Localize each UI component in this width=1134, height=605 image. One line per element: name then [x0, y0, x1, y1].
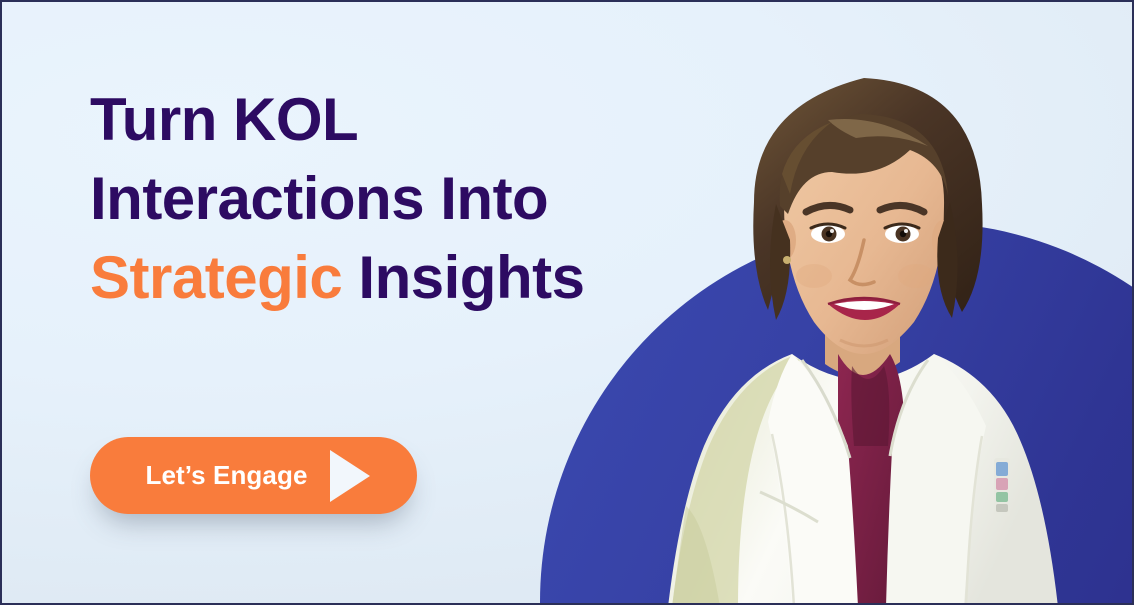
headline-line-3: Strategic Insights — [90, 238, 710, 317]
cta-label: Let’s Engage — [145, 460, 307, 491]
headline-line-2: Interactions Into — [90, 159, 710, 238]
promo-banner: Turn KOL Interactions Into Strategic Ins… — [0, 0, 1134, 605]
headline-line-1: Turn KOL — [90, 80, 710, 159]
play-triangle-icon — [330, 450, 370, 502]
headline-line-3-rest: Insights — [342, 244, 584, 311]
headline-accent-word: Strategic — [90, 244, 342, 311]
lets-engage-button[interactable]: Let’s Engage — [90, 437, 417, 514]
page-title: Turn KOL Interactions Into Strategic Ins… — [90, 80, 710, 317]
